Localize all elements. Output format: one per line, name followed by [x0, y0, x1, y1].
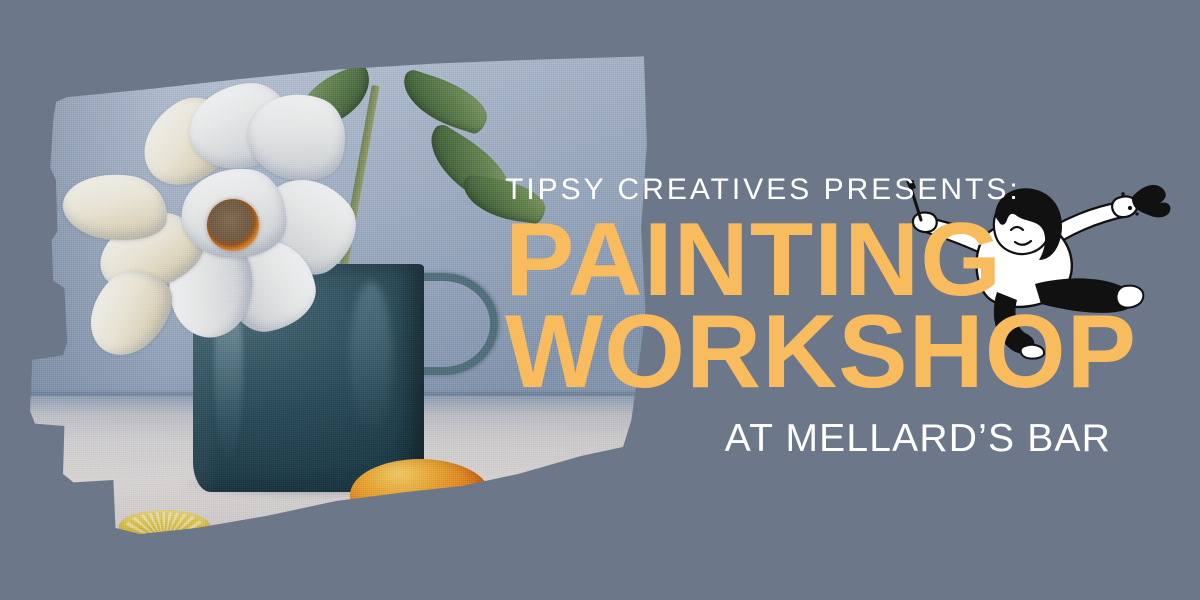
paint-drop-2	[1135, 212, 1138, 215]
paint-drop-1	[1128, 206, 1132, 210]
venue-text: AT MELLARD’S BAR	[505, 417, 1125, 461]
event-banner: TIPSY CREATIVES PRESENTS: PAINTING WORKS…	[0, 0, 1200, 600]
kicker-text: TIPSY CREATIVES PRESENTS:	[505, 175, 1125, 205]
banner-copy: TIPSY CREATIVES PRESENTS: PAINTING WORKS…	[505, 175, 1125, 461]
painter-paint-splotch	[1132, 185, 1170, 217]
headline-line-2: WORKSHOP	[505, 303, 1125, 403]
